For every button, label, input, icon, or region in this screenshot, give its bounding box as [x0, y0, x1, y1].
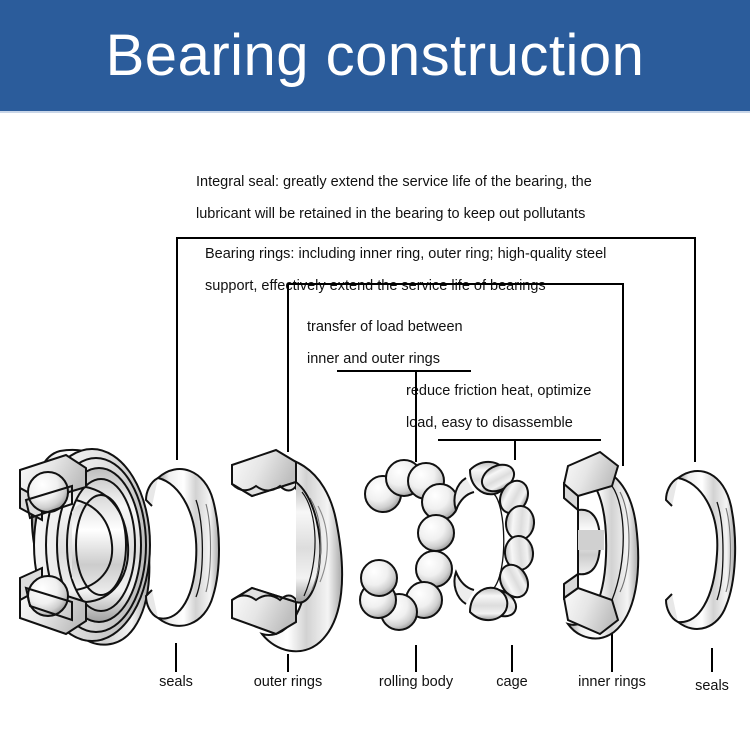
- part-label-rolling-body: rolling body: [356, 674, 476, 690]
- part-label-inner-rings: inner rings: [552, 674, 672, 690]
- part-label-outer-rings: outer rings: [228, 674, 348, 690]
- part-outer-ring: [232, 450, 342, 651]
- part-seal-ring-right: [666, 471, 735, 629]
- part-label-seals-right: seals: [662, 678, 750, 694]
- part-inner-ring: [564, 452, 638, 638]
- page-root: Bearing construction Integral seal: grea…: [0, 0, 750, 750]
- part-cage: [454, 459, 535, 621]
- part-bearing-assembly: [20, 449, 150, 645]
- part-label-cage: cage: [472, 674, 552, 690]
- part-seal-ring-left: [146, 469, 219, 626]
- part-rolling-balls: [360, 460, 458, 630]
- ball: [361, 560, 397, 596]
- ball: [418, 515, 454, 551]
- bearing-parts-diagram: [0, 0, 750, 750]
- part-label-seals-left: seals: [126, 674, 226, 690]
